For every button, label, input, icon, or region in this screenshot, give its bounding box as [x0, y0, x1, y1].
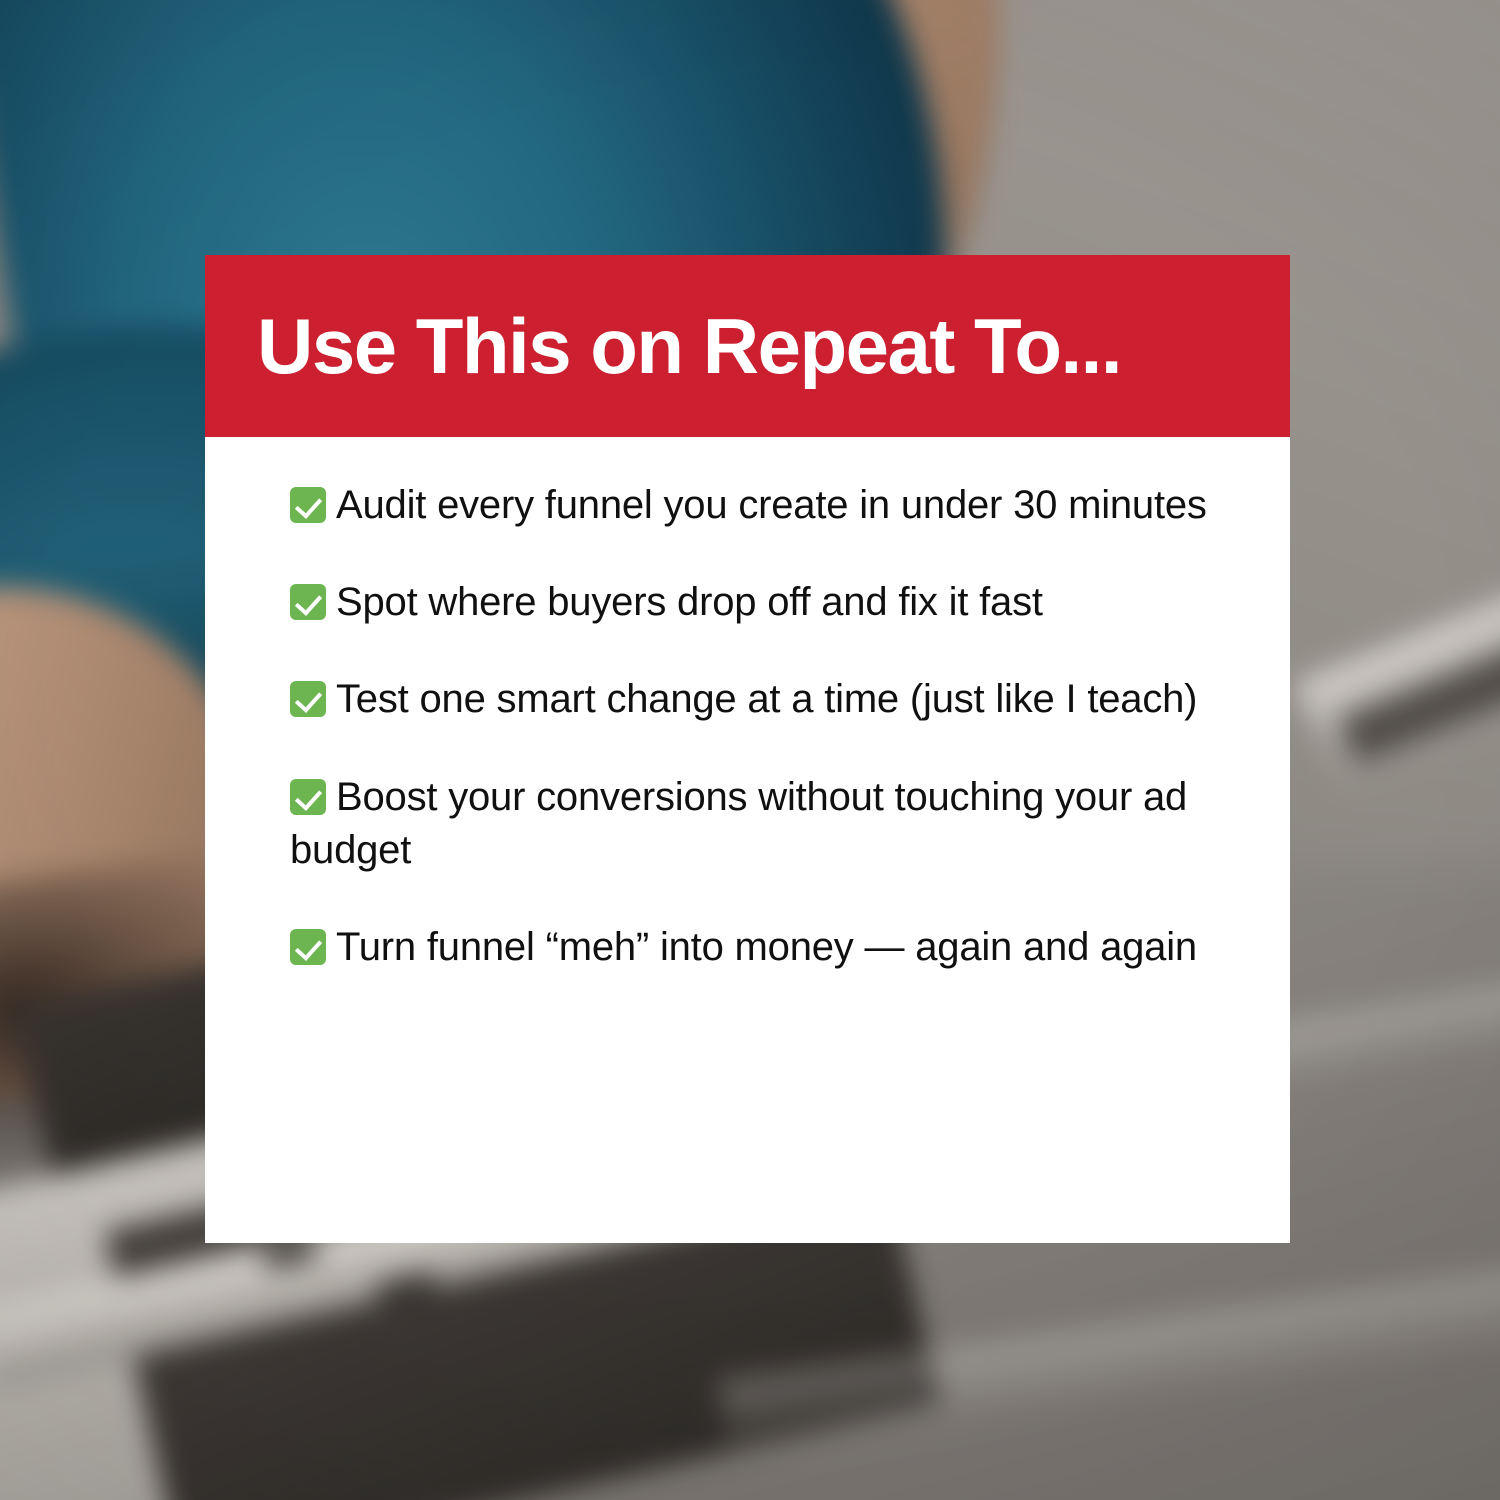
list-item-label: Spot where buyers drop off and fix it fa…: [336, 580, 1043, 624]
list-item: Turn funnel “meh” into money — again and…: [290, 921, 1250, 974]
green-check-mark-icon: [290, 487, 326, 523]
checklist: Audit every funnel you create in under 3…: [205, 437, 1290, 974]
list-item-label: Audit every funnel you create in under 3…: [336, 483, 1207, 527]
green-check-mark-icon: [290, 681, 326, 717]
list-item: Boost your conversions without touching …: [290, 771, 1250, 877]
list-item-label: Test one smart change at a time (just li…: [336, 677, 1197, 721]
content-card: Use This on Repeat To... Audit every fun…: [205, 255, 1290, 1243]
page-title: Use This on Repeat To...: [257, 307, 1121, 385]
card-header-banner: Use This on Repeat To...: [205, 255, 1290, 437]
list-item: Test one smart change at a time (just li…: [290, 673, 1250, 726]
list-item-label: Turn funnel “meh” into money — again and…: [336, 925, 1197, 969]
green-check-mark-icon: [290, 929, 326, 965]
list-item: Spot where buyers drop off and fix it fa…: [290, 576, 1250, 629]
green-check-mark-icon: [290, 584, 326, 620]
list-item-label: Boost your conversions without touching …: [290, 775, 1187, 872]
graphic-canvas: Use This on Repeat To... Audit every fun…: [0, 0, 1500, 1500]
green-check-mark-icon: [290, 779, 326, 815]
list-item: Audit every funnel you create in under 3…: [290, 479, 1250, 532]
